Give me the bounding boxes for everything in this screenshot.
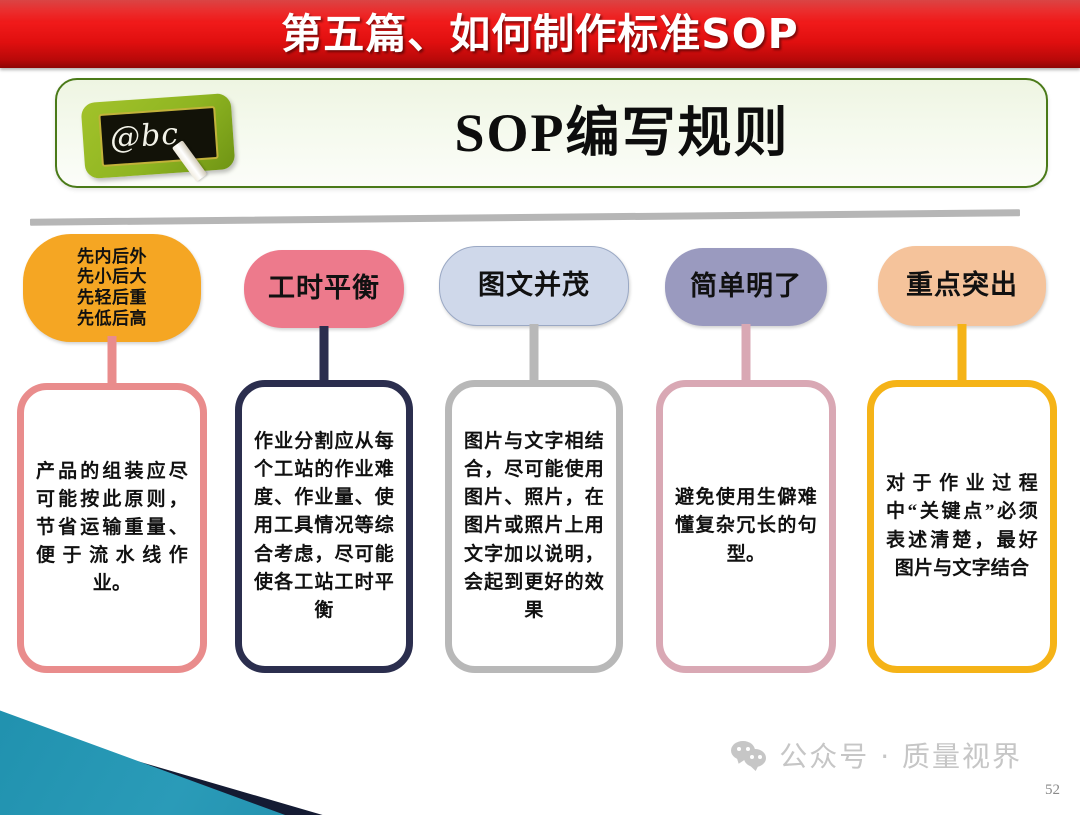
flow-card-2[interactable]: 作业分割应从每个工站的作业难度、作业量、使用工具情况等综合考虑，尽可能使各工站工… — [235, 380, 413, 673]
flow-pill-1[interactable]: 先内后外 先小后大 先轻后重 先低后高 — [23, 234, 201, 342]
chalkboard-chalk-text: @bc — [108, 109, 180, 166]
flow-column-3: 图文并茂 图片与文字相结合，尽可能使用图片、照片，在图片或照片上用文字加以说明，… — [428, 228, 640, 673]
header-banner: 第五篇、如何制作标准SOP — [0, 0, 1080, 68]
flow-card-5[interactable]: 对于作业过程中“关键点”必须表述清楚，最好图片与文字结合 — [867, 380, 1057, 673]
flow-column-5: 重点突出 对于作业过程中“关键点”必须表述清楚，最好图片与文字结合 — [856, 228, 1068, 673]
page-title: SOP编写规则 — [272, 80, 972, 186]
chalkboard-icon: @bc — [75, 88, 250, 184]
flow-stem-5 — [958, 324, 967, 388]
flow-card-4[interactable]: 避免使用生僻难懂复杂冗长的句型。 — [656, 380, 836, 673]
wechat-icon — [731, 740, 769, 770]
flow-pill-label-4: 简单明了 — [690, 271, 802, 302]
flow-column-4: 简单明了 避免使用生僻难懂复杂冗长的句型。 — [640, 228, 852, 673]
rules-flow-diagram: 先内后外 先小后大 先轻后重 先低后高 产品的组装应尽可能按此原则，节省运输重量… — [0, 228, 1080, 673]
flow-card-text-5: 对于作业过程中“关键点”必须表述清楚，最好图片与文字结合 — [886, 470, 1038, 582]
watermark: 公众号 · 质量视界 — [731, 735, 1022, 775]
flow-card-1[interactable]: 产品的组装应尽可能按此原则，节省运输重量、便于流水线作业。 — [17, 383, 207, 673]
flow-pill-5[interactable]: 重点突出 — [878, 246, 1046, 326]
flow-pill-4[interactable]: 简单明了 — [665, 248, 827, 326]
flow-pill-label-3: 图文并茂 — [478, 270, 590, 301]
watermark-text: 公众号 · 质量视界 — [779, 735, 1022, 775]
flow-card-text-2: 作业分割应从每个工站的作业难度、作业量、使用工具情况等综合考虑，尽可能使各工站工… — [254, 428, 394, 625]
flow-stem-4 — [742, 324, 751, 388]
chalkboard-frame: @bc — [81, 93, 236, 179]
flow-pill-2[interactable]: 工时平衡 — [244, 250, 404, 328]
flow-column-1: 先内后外 先小后大 先轻后重 先低后高 产品的组装应尽可能按此原则，节省运输重量… — [6, 228, 218, 673]
flow-pill-label-5: 重点突出 — [906, 270, 1018, 301]
flow-card-text-1: 产品的组装应尽可能按此原则，节省运输重量、便于流水线作业。 — [36, 458, 188, 599]
corner-decoration-dark — [0, 665, 420, 815]
page-number: 52 — [1045, 782, 1060, 799]
flow-pill-3[interactable]: 图文并茂 — [439, 246, 629, 326]
flow-stem-2 — [320, 326, 329, 388]
flow-stem-3 — [530, 324, 539, 386]
flow-card-text-4: 避免使用生僻难懂复杂冗长的句型。 — [675, 484, 817, 568]
header-title: 第五篇、如何制作标准SOP — [0, 2, 1080, 66]
divider — [30, 209, 1020, 226]
chalkboard-surface: @bc — [98, 106, 218, 167]
corner-decoration-teal — [0, 665, 420, 815]
corner-decoration — [0, 665, 420, 815]
flow-pill-label-2: 工时平衡 — [268, 273, 380, 304]
flow-card-text-3: 图片与文字相结合，尽可能使用图片、照片，在图片或照片上用文字加以说明，会起到更好… — [464, 428, 604, 625]
flow-card-3[interactable]: 图片与文字相结合，尽可能使用图片、照片，在图片或照片上用文字加以说明，会起到更好… — [445, 380, 623, 673]
flow-pill-label-1: 先内后外 先小后大 先轻后重 先低后高 — [77, 247, 147, 330]
section-title-box: @bc SOP编写规则 — [55, 78, 1048, 188]
flow-column-2: 工时平衡 作业分割应从每个工站的作业难度、作业量、使用工具情况等综合考虑，尽可能… — [218, 228, 430, 673]
